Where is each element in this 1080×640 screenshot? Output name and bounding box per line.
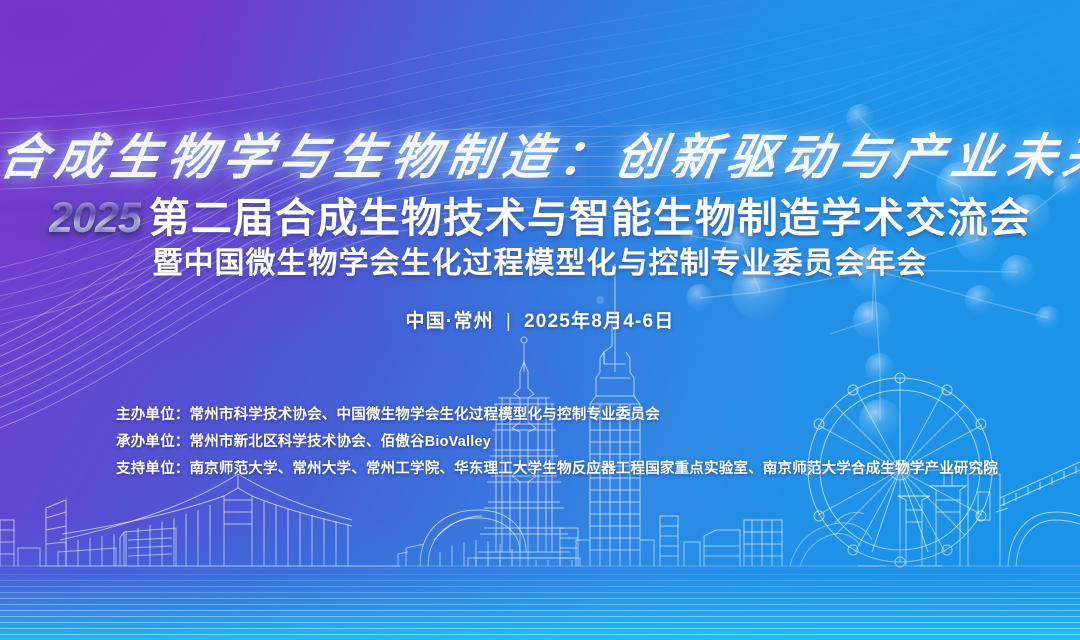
event-location: 中国·常州 bbox=[406, 311, 494, 332]
year-badge: 2025 bbox=[49, 194, 141, 242]
calligraphy-headline: 合成生物学与生物制造：创新驱动与产业未来 bbox=[0, 118, 1080, 189]
organizer-line-undertaker: 承办单位：常州市新北区科学技术协会、佰傲谷BioValley bbox=[116, 429, 998, 456]
poster-content: 合成生物学与生物制造：创新驱动与产业未来 2025第二届合成生物技术与智能生物制… bbox=[0, 0, 1080, 640]
conference-poster: 合成生物学与生物制造：创新驱动与产业未来 2025第二届合成生物技术与智能生物制… bbox=[0, 0, 1080, 640]
event-date: 2025年8月4-6日 bbox=[524, 311, 675, 332]
main-title-text: 第二届合成生物技术与智能生物制造学术交流会 bbox=[149, 195, 1031, 241]
sub-title: 暨中国微生物学会生化过程模型化与控制专业委员会年会 bbox=[0, 238, 1080, 282]
organizer-line-host: 主办单位：常州市科学技术协会、中国微生物学会生化过程模型化与控制专业委员会 bbox=[116, 402, 998, 429]
event-meta: 中国·常州|2025年8月4-6日 bbox=[0, 306, 1080, 333]
organizer-line-supporter: 支持单位：南京师范大学、常州大学、常州工学院、华东理工大学生物反应器工程国家重点… bbox=[116, 456, 998, 483]
page-title: 2025第二届合成生物技术与智能生物制造学术交流会 bbox=[0, 184, 1080, 244]
meta-separator: | bbox=[506, 311, 512, 333]
organizer-block: 主办单位：常州市科学技术协会、中国微生物学会生化过程模型化与控制专业委员会 承办… bbox=[116, 402, 998, 483]
